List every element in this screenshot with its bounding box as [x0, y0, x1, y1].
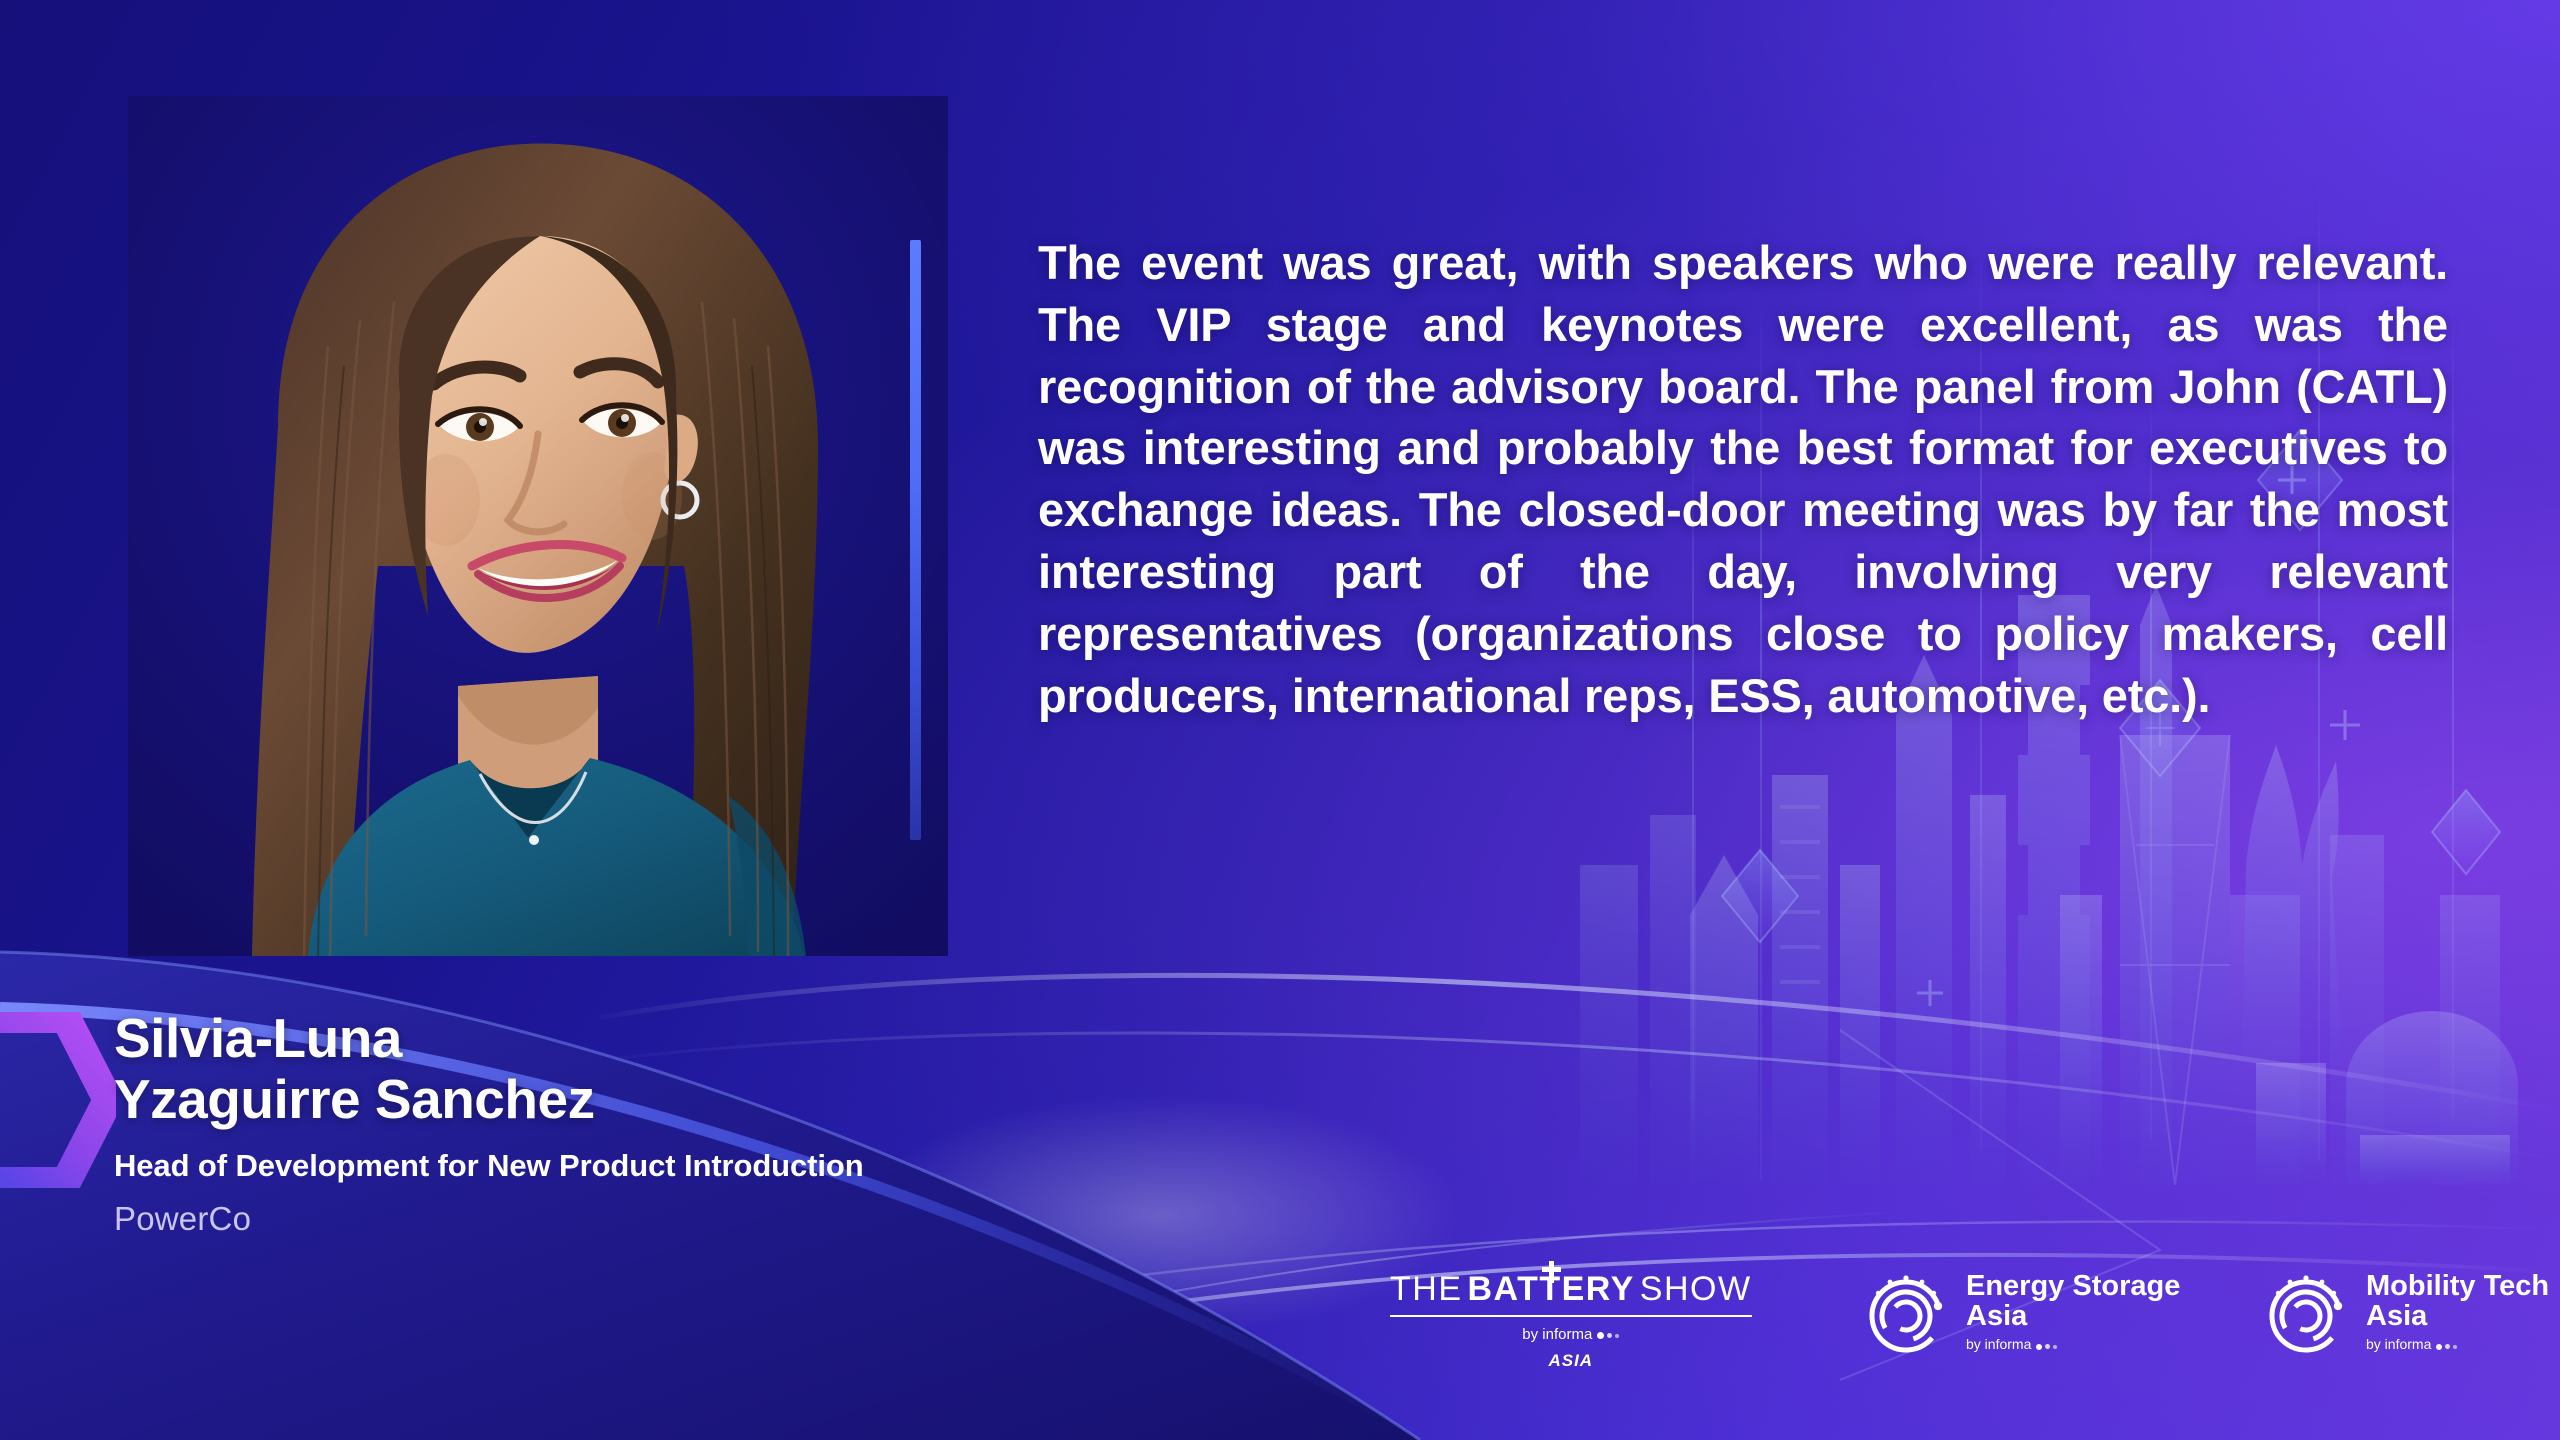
- esa-byline: by informa: [1966, 1336, 2180, 1353]
- battery-show-byline: by informa: [1522, 1326, 1619, 1344]
- testimonial-quote: The event was great, with speakers who w…: [1038, 232, 2448, 726]
- esa-line2: Asia: [1966, 1301, 2180, 1332]
- quote-accent-bar: [910, 240, 921, 840]
- bg-vertical-line: [2452, 300, 2454, 1120]
- speaker-role: Head of Development for New Product Intr…: [114, 1147, 1174, 1184]
- informa-dots-icon: [2436, 1337, 2457, 1353]
- hexagon-accent-icon: [0, 1012, 116, 1188]
- mta-byline: by informa: [2366, 1336, 2549, 1353]
- battery-show-battery: BATTERY: [1468, 1272, 1635, 1306]
- battery-show-rule: [1390, 1315, 1752, 1317]
- logo-the-battery-show[interactable]: THE BATTERY SHOW by informa ASIA: [1390, 1272, 1752, 1371]
- informa-dots-icon: [1597, 1327, 1619, 1344]
- quote-text: The event was great, with speakers who w…: [1038, 236, 2448, 722]
- energy-storage-asia-wordmark: Energy Storage Asia by informa: [1966, 1271, 2180, 1354]
- speaker-organization: PowerCo: [114, 1200, 1174, 1238]
- event-logo-row: THE BATTERY SHOW by informa ASIA: [1380, 1250, 2540, 1400]
- speaker-name-line1: Silvia-Luna: [114, 1008, 1174, 1069]
- speaker-info: Silvia-Luna Yzaguirre Sanchez Head of De…: [114, 1008, 1174, 1238]
- informa-dots-icon: [2036, 1337, 2057, 1353]
- battery-show-wordmark: THE BATTERY SHOW: [1390, 1272, 1752, 1306]
- testimonial-card: The event was great, with speakers who w…: [0, 0, 2560, 1440]
- mobility-tech-asia-wordmark: Mobility Tech Asia by informa: [2366, 1271, 2549, 1354]
- mta-line1: Mobility Tech: [2366, 1271, 2549, 1302]
- portrait-illustration: [128, 96, 948, 956]
- speaker-name-line2: Yzaguirre Sanchez: [114, 1069, 1174, 1130]
- battery-plus-icon: [1540, 1261, 1562, 1283]
- speaker-name: Silvia-Luna Yzaguirre Sanchez: [114, 1008, 1174, 1129]
- mta-line2: Asia: [2366, 1301, 2549, 1332]
- logo-energy-storage-asia[interactable]: Energy Storage Asia by informa: [1860, 1266, 2180, 1358]
- speaker-portrait: [128, 96, 948, 956]
- battery-show-show: SHOW: [1640, 1272, 1752, 1306]
- informa-ring-icon: [2260, 1266, 2352, 1358]
- battery-show-the: THE: [1390, 1272, 1463, 1306]
- informa-ring-icon: [1860, 1266, 1952, 1358]
- esa-line1: Energy Storage: [1966, 1271, 2180, 1302]
- logo-mobility-tech-asia[interactable]: Mobility Tech Asia by informa: [2260, 1266, 2549, 1358]
- battery-show-region: ASIA: [1548, 1351, 1593, 1371]
